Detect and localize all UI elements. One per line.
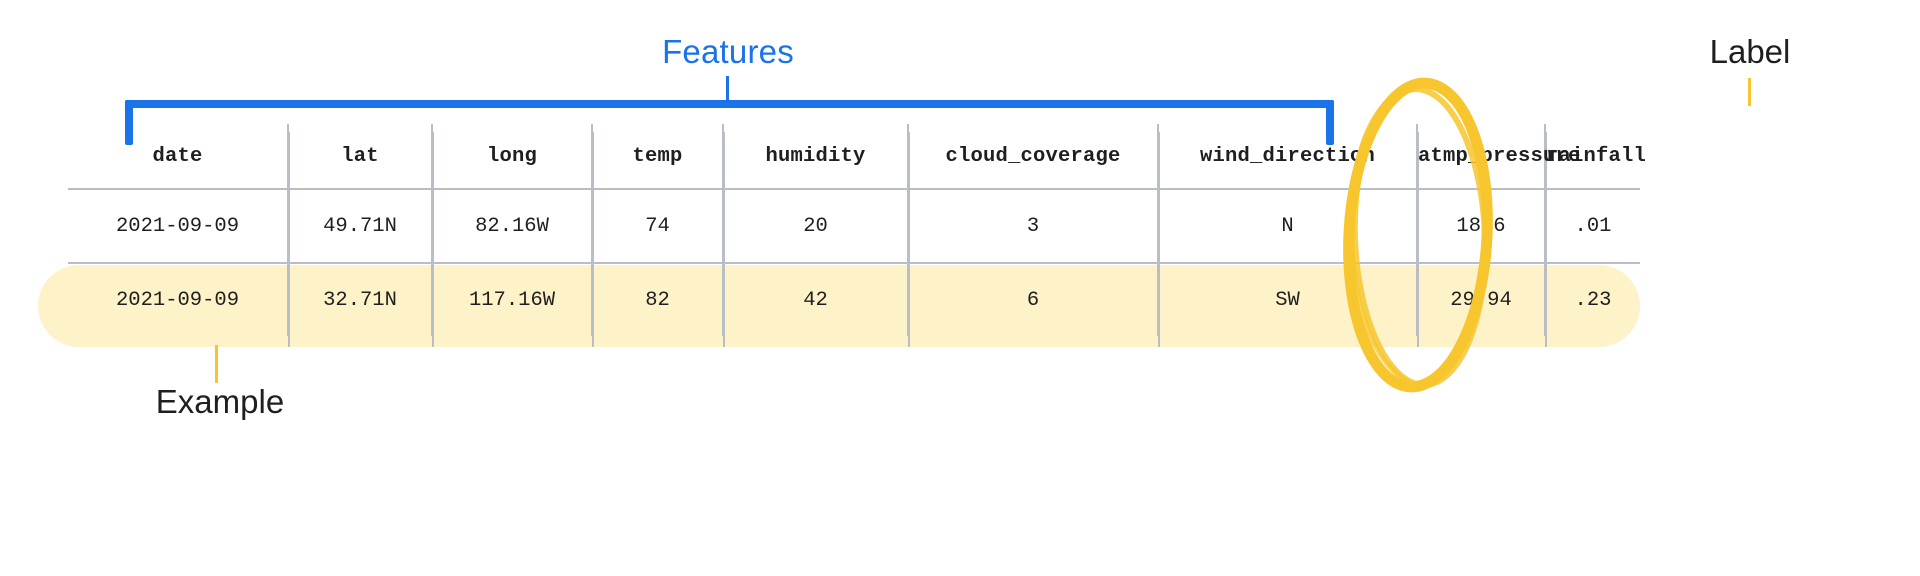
features-connector-line-icon — [726, 76, 729, 104]
cell-lat: 32.71N — [288, 263, 432, 336]
cell-temp: 82 — [592, 263, 723, 336]
table-header-row: date lat long temp humidity cloud_covera… — [68, 124, 1640, 189]
dataset-table-wrapper: date lat long temp humidity cloud_covera… — [0, 0, 1920, 576]
column-header-rainfall[interactable]: rainfall — [1545, 124, 1640, 189]
cell-wind-direction: SW — [1158, 263, 1417, 336]
column-header-wind-direction[interactable]: wind_direction — [1158, 124, 1417, 189]
table-row[interactable]: 2021-09-09 49.71N 82.16W 74 20 3 N 18.6 … — [68, 189, 1640, 263]
example-annotation-label: Example — [90, 383, 350, 421]
example-connector-line-icon — [215, 345, 218, 383]
cell-long: 117.16W — [432, 263, 592, 336]
features-bracket-left-tick-icon — [125, 100, 133, 145]
label-annotation-label: Label — [1620, 33, 1880, 71]
cell-long: 82.16W — [432, 189, 592, 263]
column-header-cloud-coverage[interactable]: cloud_coverage — [908, 124, 1158, 189]
diagram-canvas: date lat long temp humidity cloud_covera… — [0, 0, 1920, 576]
column-header-lat[interactable]: lat — [288, 124, 432, 189]
cell-temp: 74 — [592, 189, 723, 263]
label-connector-line-icon — [1748, 78, 1751, 106]
cell-rainfall: .01 — [1545, 189, 1640, 263]
cell-atmp-pressure: 29.94 — [1417, 263, 1545, 336]
column-header-long[interactable]: long — [432, 124, 592, 189]
cell-atmp-pressure: 18.6 — [1417, 189, 1545, 263]
column-header-temp[interactable]: temp — [592, 124, 723, 189]
cell-wind-direction: N — [1158, 189, 1417, 263]
cell-cloud-coverage: 3 — [908, 189, 1158, 263]
column-header-humidity[interactable]: humidity — [723, 124, 908, 189]
cell-cloud-coverage: 6 — [908, 263, 1158, 336]
column-header-atmp-pressure[interactable]: atmp_pressure — [1417, 124, 1545, 189]
cell-date: 2021-09-09 — [68, 263, 288, 336]
column-header-date[interactable]: date — [68, 124, 288, 189]
features-bracket-icon — [125, 100, 1334, 108]
cell-date: 2021-09-09 — [68, 189, 288, 263]
cell-humidity: 20 — [723, 189, 908, 263]
cell-humidity: 42 — [723, 263, 908, 336]
cell-lat: 49.71N — [288, 189, 432, 263]
features-bracket-right-tick-icon — [1326, 100, 1334, 145]
dataset-table: date lat long temp humidity cloud_covera… — [68, 124, 1640, 336]
features-annotation-label: Features — [600, 33, 856, 71]
table-row[interactable]: 2021-09-09 32.71N 117.16W 82 42 6 SW 29.… — [68, 263, 1640, 336]
cell-rainfall: .23 — [1545, 263, 1640, 336]
